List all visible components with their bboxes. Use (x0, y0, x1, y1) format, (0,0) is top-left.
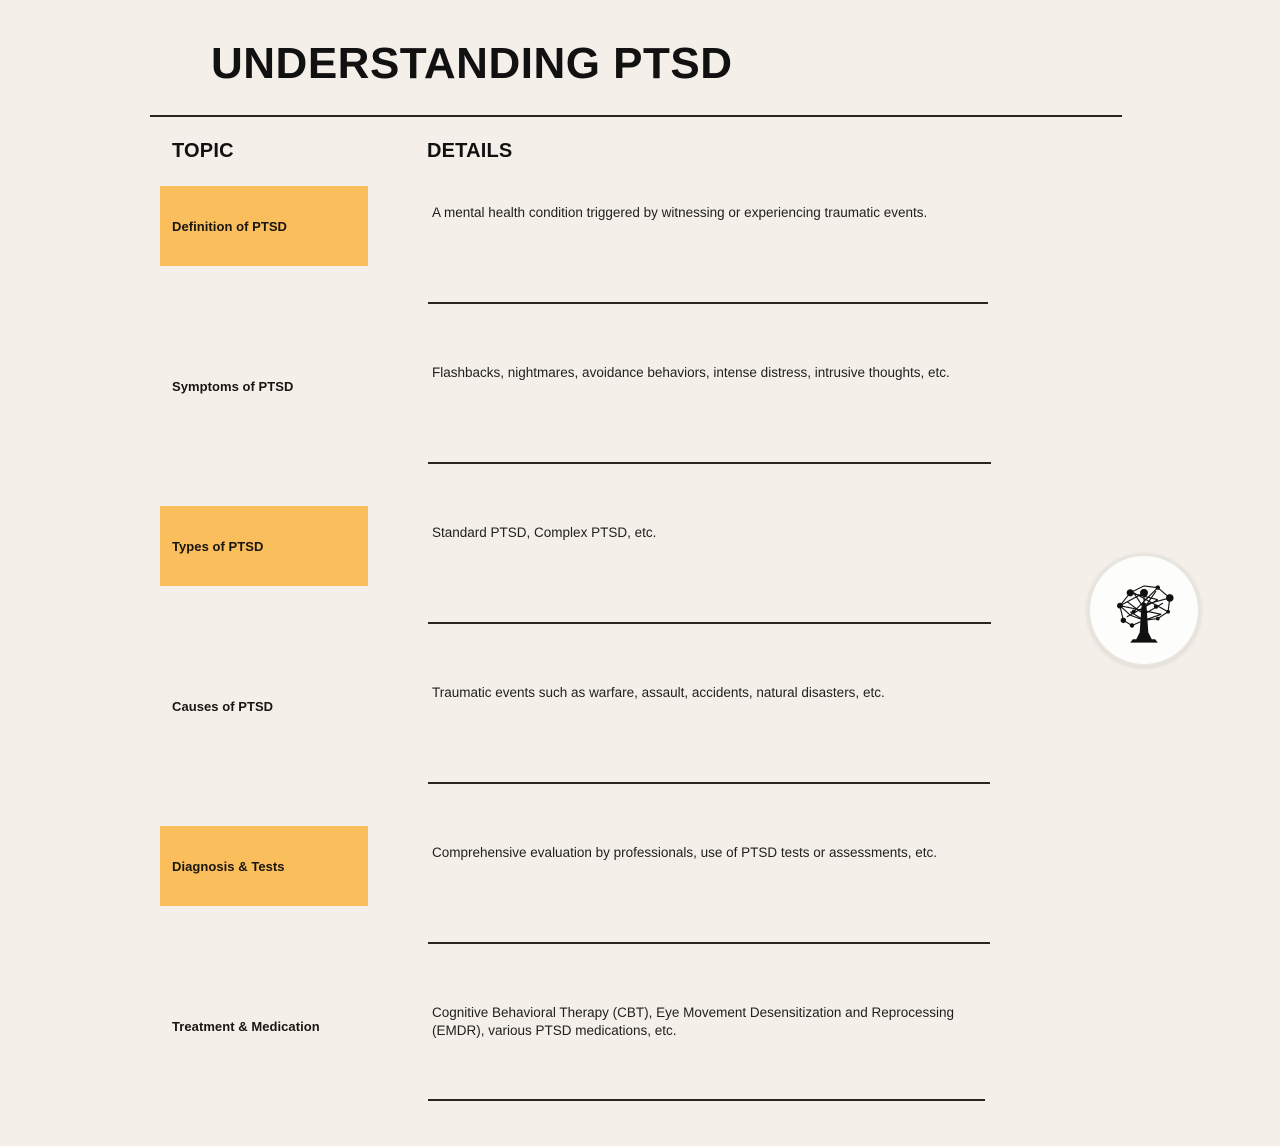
detail-divider (428, 462, 991, 464)
detail-text: Standard PTSD, Complex PTSD, etc. (432, 524, 972, 542)
detail-divider (428, 942, 990, 944)
topic-label: Treatment & Medication (160, 1019, 320, 1034)
detail-row: Comprehensive evaluation by professional… (428, 826, 992, 906)
detail-row: Cognitive Behavioral Therapy (CBT), Eye … (428, 986, 992, 1066)
topic-row[interactable]: Causes of PTSD (160, 666, 368, 746)
detail-row: Standard PTSD, Complex PTSD, etc. (428, 506, 992, 586)
topic-label: Diagnosis & Tests (160, 859, 285, 874)
detail-divider (428, 302, 988, 304)
detail-row: Traumatic events such as warfare, assaul… (428, 666, 992, 746)
details-column: A mental health condition triggered by w… (428, 186, 992, 1146)
topic-row[interactable]: Symptoms of PTSD (160, 346, 368, 426)
topic-label: Definition of PTSD (160, 219, 287, 234)
detail-divider (428, 622, 991, 624)
column-header-topic: TOPIC (172, 140, 234, 163)
column-header-details: DETAILS (427, 140, 512, 163)
title-divider (150, 115, 1122, 117)
detail-divider (428, 782, 990, 784)
page-title: UNDERSTANDING PTSD (211, 40, 733, 88)
detail-row: Flashbacks, nightmares, avoidance behavi… (428, 346, 992, 426)
topic-row[interactable]: Types of PTSD (160, 506, 368, 586)
detail-text: Cognitive Behavioral Therapy (CBT), Eye … (432, 1004, 972, 1040)
detail-text: Flashbacks, nightmares, avoidance behavi… (432, 364, 972, 382)
topic-column: Definition of PTSD Symptoms of PTSD Type… (160, 186, 368, 1146)
topic-label: Symptoms of PTSD (160, 379, 293, 394)
slide-canvas: UNDERSTANDING PTSD TOPIC DETAILS Definit… (0, 0, 1280, 720)
topic-row[interactable]: Treatment & Medication (160, 986, 368, 1066)
network-tree-logo-icon (1090, 556, 1198, 664)
topic-label: Causes of PTSD (160, 699, 273, 714)
detail-text: Comprehensive evaluation by professional… (432, 844, 972, 862)
detail-text: A mental health condition triggered by w… (432, 204, 972, 222)
topic-row[interactable]: Definition of PTSD (160, 186, 368, 266)
topic-row[interactable]: Diagnosis & Tests (160, 826, 368, 906)
detail-row: A mental health condition triggered by w… (428, 186, 992, 266)
detail-text: Traumatic events such as warfare, assaul… (432, 684, 972, 702)
detail-divider (428, 1099, 985, 1101)
topic-label: Types of PTSD (160, 539, 263, 554)
